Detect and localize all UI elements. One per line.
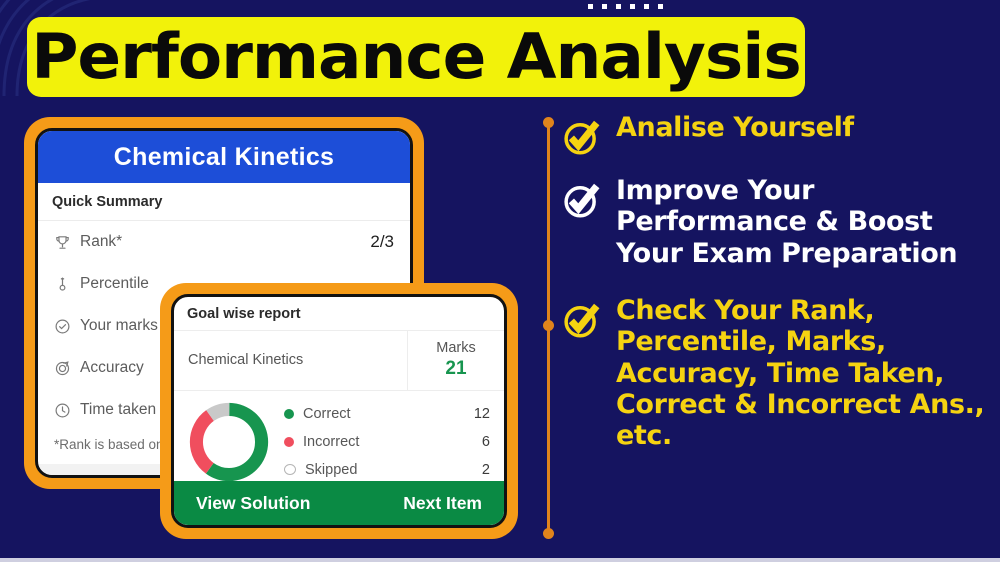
benefit-text: Analise Yourself: [616, 112, 854, 143]
summary-label: Rank*: [80, 233, 370, 251]
legend-item-correct: Correct 12: [284, 400, 490, 428]
legend-value: 2: [482, 462, 490, 478]
marks-value: 21: [408, 357, 504, 382]
benefit-list: Analise Yourself Improve Your Performanc…: [560, 112, 990, 458]
bottom-border: [0, 558, 1000, 562]
top-dot: [658, 4, 663, 9]
benefit-item-2: Improve Your Performance & Boost Your Ex…: [560, 175, 990, 269]
summary-row-rank[interactable]: Rank* 2/3: [38, 221, 410, 263]
top-dot: [630, 4, 635, 9]
clock-icon: [54, 402, 80, 419]
marks-label: Marks: [408, 339, 504, 357]
target-icon: [54, 360, 80, 377]
benefit-text: Improve Your Performance & Boost Your Ex…: [616, 175, 990, 269]
benefit-item-1: Analise Yourself: [560, 112, 990, 163]
legend-label: Incorrect: [303, 434, 482, 450]
legend-value: 12: [474, 406, 490, 422]
timeline-dot-bottom: [543, 528, 554, 539]
donut-legend: Correct 12 Incorrect 6 Skipped 2: [284, 400, 504, 484]
check-circle-icon: [560, 295, 616, 346]
top-dot: [602, 4, 607, 9]
summary-value: 2/3: [370, 232, 394, 252]
top-dot: [588, 4, 593, 9]
benefit-item-3: Check Your Rank, Percentile, Marks, Accu…: [560, 295, 990, 452]
action-bar: View Solution Next Item: [174, 481, 504, 525]
legend-item-skipped: Skipped 2: [284, 456, 490, 484]
donut-svg: [186, 399, 272, 485]
goal-wise-report-screen: Goal wise report Chemical Kinetics Marks…: [171, 294, 507, 528]
legend-dot-correct: [284, 409, 294, 419]
legend-label: Correct: [303, 406, 474, 422]
donut-chart: [174, 399, 284, 485]
legend-item-incorrect: Incorrect 6: [284, 428, 490, 456]
check-circle-icon: [560, 175, 616, 226]
donut-section: Correct 12 Incorrect 6 Skipped 2: [174, 391, 504, 489]
timeline-dot-middle: [543, 320, 554, 331]
check-circle-icon: [54, 318, 80, 335]
trophy-icon: [54, 234, 80, 251]
slide-canvas: Performance Analysis Chemical Kinetics Q…: [0, 0, 1000, 562]
timeline-dot-top: [543, 117, 554, 128]
legend-dot-incorrect: [284, 437, 294, 447]
quick-summary-label: Quick Summary: [38, 183, 410, 221]
goal-wise-report-title: Goal wise report: [174, 297, 504, 330]
thermometer-icon: [54, 276, 80, 293]
card-header-title: Chemical Kinetics: [114, 143, 334, 172]
card-header: Chemical Kinetics: [38, 131, 410, 183]
title-banner: Performance Analysis: [27, 17, 805, 97]
benefit-text: Check Your Rank, Percentile, Marks, Accu…: [616, 295, 990, 452]
next-item-button[interactable]: Next Item: [403, 493, 482, 514]
legend-dot-skipped: [284, 464, 296, 475]
top-dot: [616, 4, 621, 9]
marks-row: Chemical Kinetics Marks 21: [174, 330, 504, 391]
legend-value: 6: [482, 434, 490, 450]
top-dot: [644, 4, 649, 9]
view-solution-button[interactable]: View Solution: [196, 493, 310, 514]
page-title: Performance Analysis: [31, 26, 800, 88]
subject-name: Chemical Kinetics: [174, 331, 407, 390]
marks-cell: Marks 21: [407, 331, 504, 390]
top-dots: [588, 4, 663, 9]
check-circle-icon: [560, 112, 616, 163]
goal-wise-report-card: Goal wise report Chemical Kinetics Marks…: [160, 283, 518, 539]
legend-label: Skipped: [305, 462, 482, 478]
